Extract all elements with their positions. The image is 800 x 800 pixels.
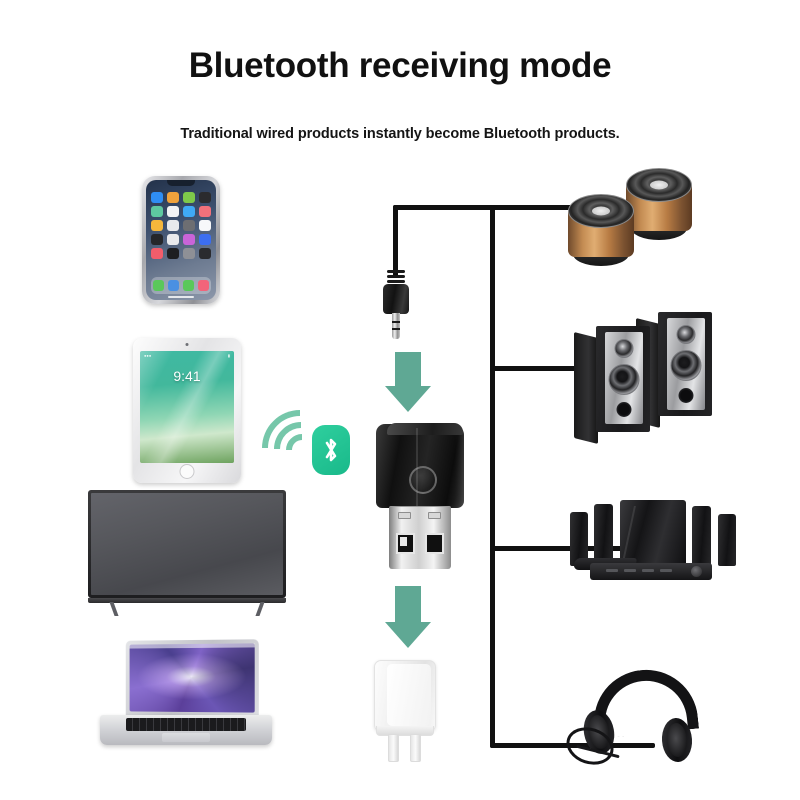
device-laptop	[100, 640, 272, 752]
bluetooth-usb-adapter[interactable]	[371, 424, 469, 572]
phone-dock	[151, 277, 211, 294]
output-mini-bronze-speakers	[568, 168, 704, 270]
usb-a-connector	[389, 506, 451, 569]
infographic-canvas: Bluetooth receiving mode Traditional wir…	[0, 0, 800, 800]
tablet-status-bar: ●●● ▮	[140, 353, 234, 359]
wire-audio-cable	[393, 205, 398, 277]
laptop-keyboard	[126, 718, 246, 731]
pairing-button[interactable]	[409, 466, 437, 494]
output-home-theater-system	[568, 496, 740, 582]
tablet-status-right: ▮	[228, 353, 230, 359]
bluetooth-icon	[312, 425, 350, 475]
device-television	[88, 490, 286, 616]
tablet-home-button[interactable]	[180, 464, 195, 479]
arrow-down-icon-connect	[385, 352, 431, 412]
arrow-down-icon-power	[385, 586, 431, 648]
device-tablet: ●●● ▮ 9:41	[133, 338, 241, 483]
page-subtitle: Traditional wired products instantly bec…	[0, 126, 800, 142]
tablet-clock: 9:41	[140, 368, 234, 384]
usb-wall-charger	[368, 660, 444, 762]
audio-jack-icon	[380, 268, 412, 340]
output-bookshelf-speakers	[568, 312, 710, 434]
output-headphones	[566, 666, 716, 764]
adapter-body	[376, 424, 464, 508]
phone-app-grid	[151, 192, 211, 259]
device-smartphone	[142, 176, 220, 304]
wire-bus-vertical	[490, 205, 495, 748]
laptop-trackpad	[162, 733, 210, 742]
tablet-status-left: ●●●	[144, 353, 151, 359]
phone-notch	[167, 180, 195, 186]
tablet-camera	[186, 343, 189, 346]
page-title: Bluetooth receiving mode	[0, 46, 800, 86]
